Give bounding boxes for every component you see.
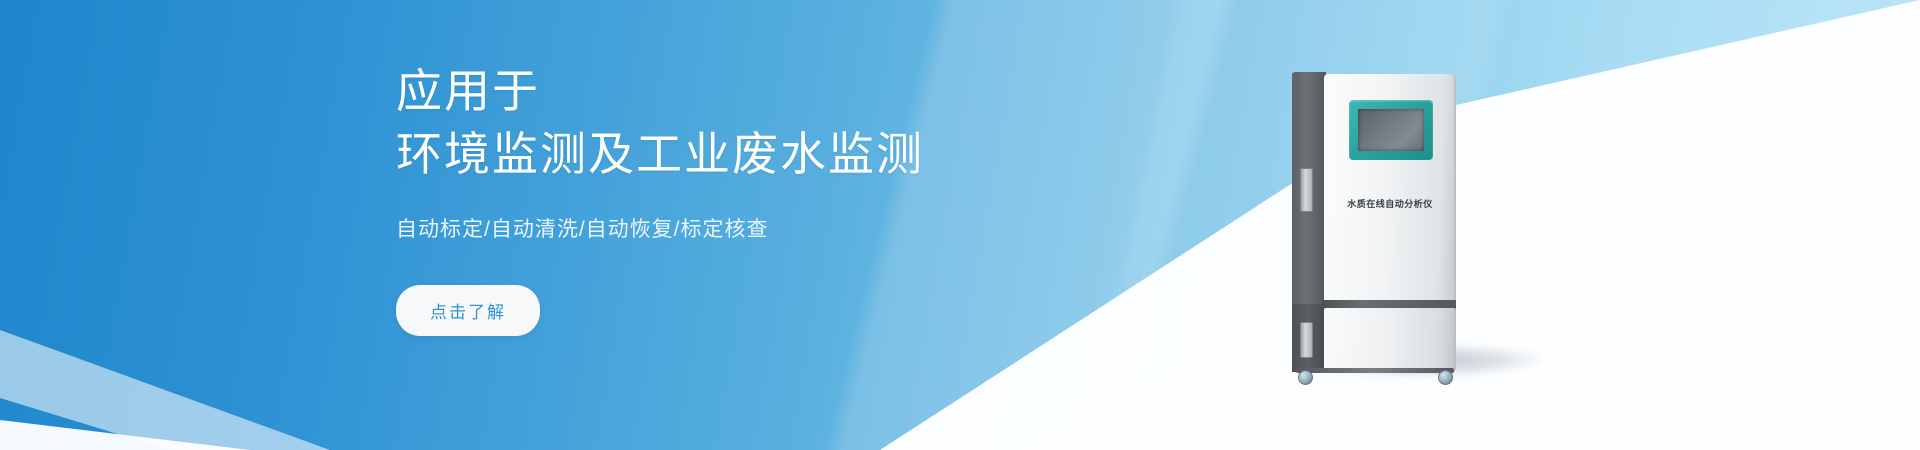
- cabinet-base: [1296, 368, 1454, 373]
- device-label: 水质在线自动分析仪: [1330, 197, 1450, 210]
- display-screen-bezel: [1349, 100, 1433, 160]
- banner-subtitle: 自动标定/自动清洗/自动恢复/标定核查: [396, 213, 1156, 243]
- headline-line-1: 应用于: [396, 65, 540, 117]
- caster-wheel-right-icon: [1438, 370, 1453, 385]
- cabinet-lower-door: [1324, 308, 1456, 374]
- hero-banner: 应用于 环境监测及工业废水监测 自动标定/自动清洗/自动恢复/标定核查 点击了解…: [0, 0, 1920, 450]
- door-handle-lower-icon: [1300, 322, 1313, 358]
- headline-line-2: 环境监测及工业废水监测: [396, 123, 1156, 186]
- caster-wheel-left-icon: [1298, 370, 1313, 385]
- display-screen: [1358, 109, 1424, 151]
- product-image-analyzer: 水质在线自动分析仪: [1292, 72, 1492, 392]
- banner-content: 应用于 环境监测及工业废水监测 自动标定/自动清洗/自动恢复/标定核查 点击了解: [396, 60, 1156, 336]
- learn-more-button[interactable]: 点击了解: [396, 285, 540, 336]
- door-handle-upper-icon: [1300, 168, 1313, 212]
- page-title: 应用于 环境监测及工业废水监测: [396, 60, 1156, 187]
